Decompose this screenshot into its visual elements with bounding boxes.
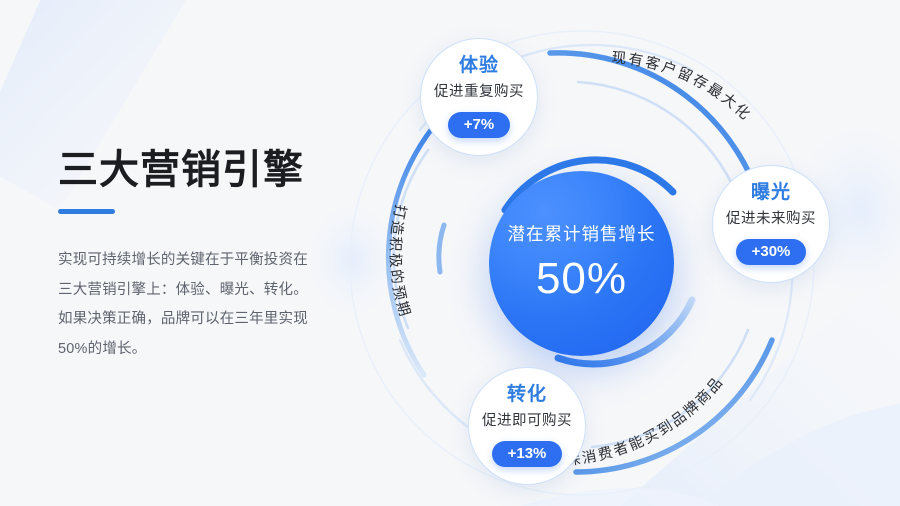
engine-subtitle: 促进即可购买 (482, 414, 572, 429)
engine-delta-badge: +30% (736, 239, 807, 265)
engine-bubble-experience[interactable]: 体验 促进重复购买 +7% (420, 38, 538, 156)
arc-label-experience: 打造积极的预期 (386, 203, 413, 320)
engine-title: 转化 (507, 385, 547, 404)
engine-delta-badge: +13% (492, 441, 563, 467)
page-title: 三大营销引擎 (58, 148, 348, 192)
description-paragraph: 实现可持续增长的关键在于平衡投资在三大营销引擎上：体验、曝光、转化。如果决策正确… (58, 246, 320, 365)
engine-bubble-conversion[interactable]: 转化 促进即可购买 +13% (468, 367, 586, 485)
three-engines-diagram: 现有客户留存最大化 打造积极的预期 确保消费者能买到品牌商品 潜在累计销售增长 … (340, 10, 900, 506)
center-metric-circle: 潜在累计销售增长 50% (489, 171, 674, 356)
engine-bubble-awareness[interactable]: 曝光 促进未来购买 +30% (712, 165, 830, 283)
infographic-canvas: 三大营销引擎 实现可持续增长的关键在于平衡投资在三大营销引擎上：体验、曝光、转化… (0, 0, 900, 506)
engine-subtitle: 促进重复购买 (434, 85, 524, 100)
center-metric-label: 潜在累计销售增长 (508, 226, 656, 244)
center-metric-value: 50% (536, 257, 627, 301)
left-text-panel: 三大营销引擎 实现可持续增长的关键在于平衡投资在三大营销引擎上：体验、曝光、转化… (58, 148, 348, 379)
engine-title: 曝光 (751, 183, 791, 202)
engine-subtitle: 促进未来购买 (726, 212, 816, 227)
title-underline (58, 209, 115, 214)
engine-title: 体验 (459, 56, 499, 75)
engine-delta-badge: +7% (448, 112, 510, 138)
